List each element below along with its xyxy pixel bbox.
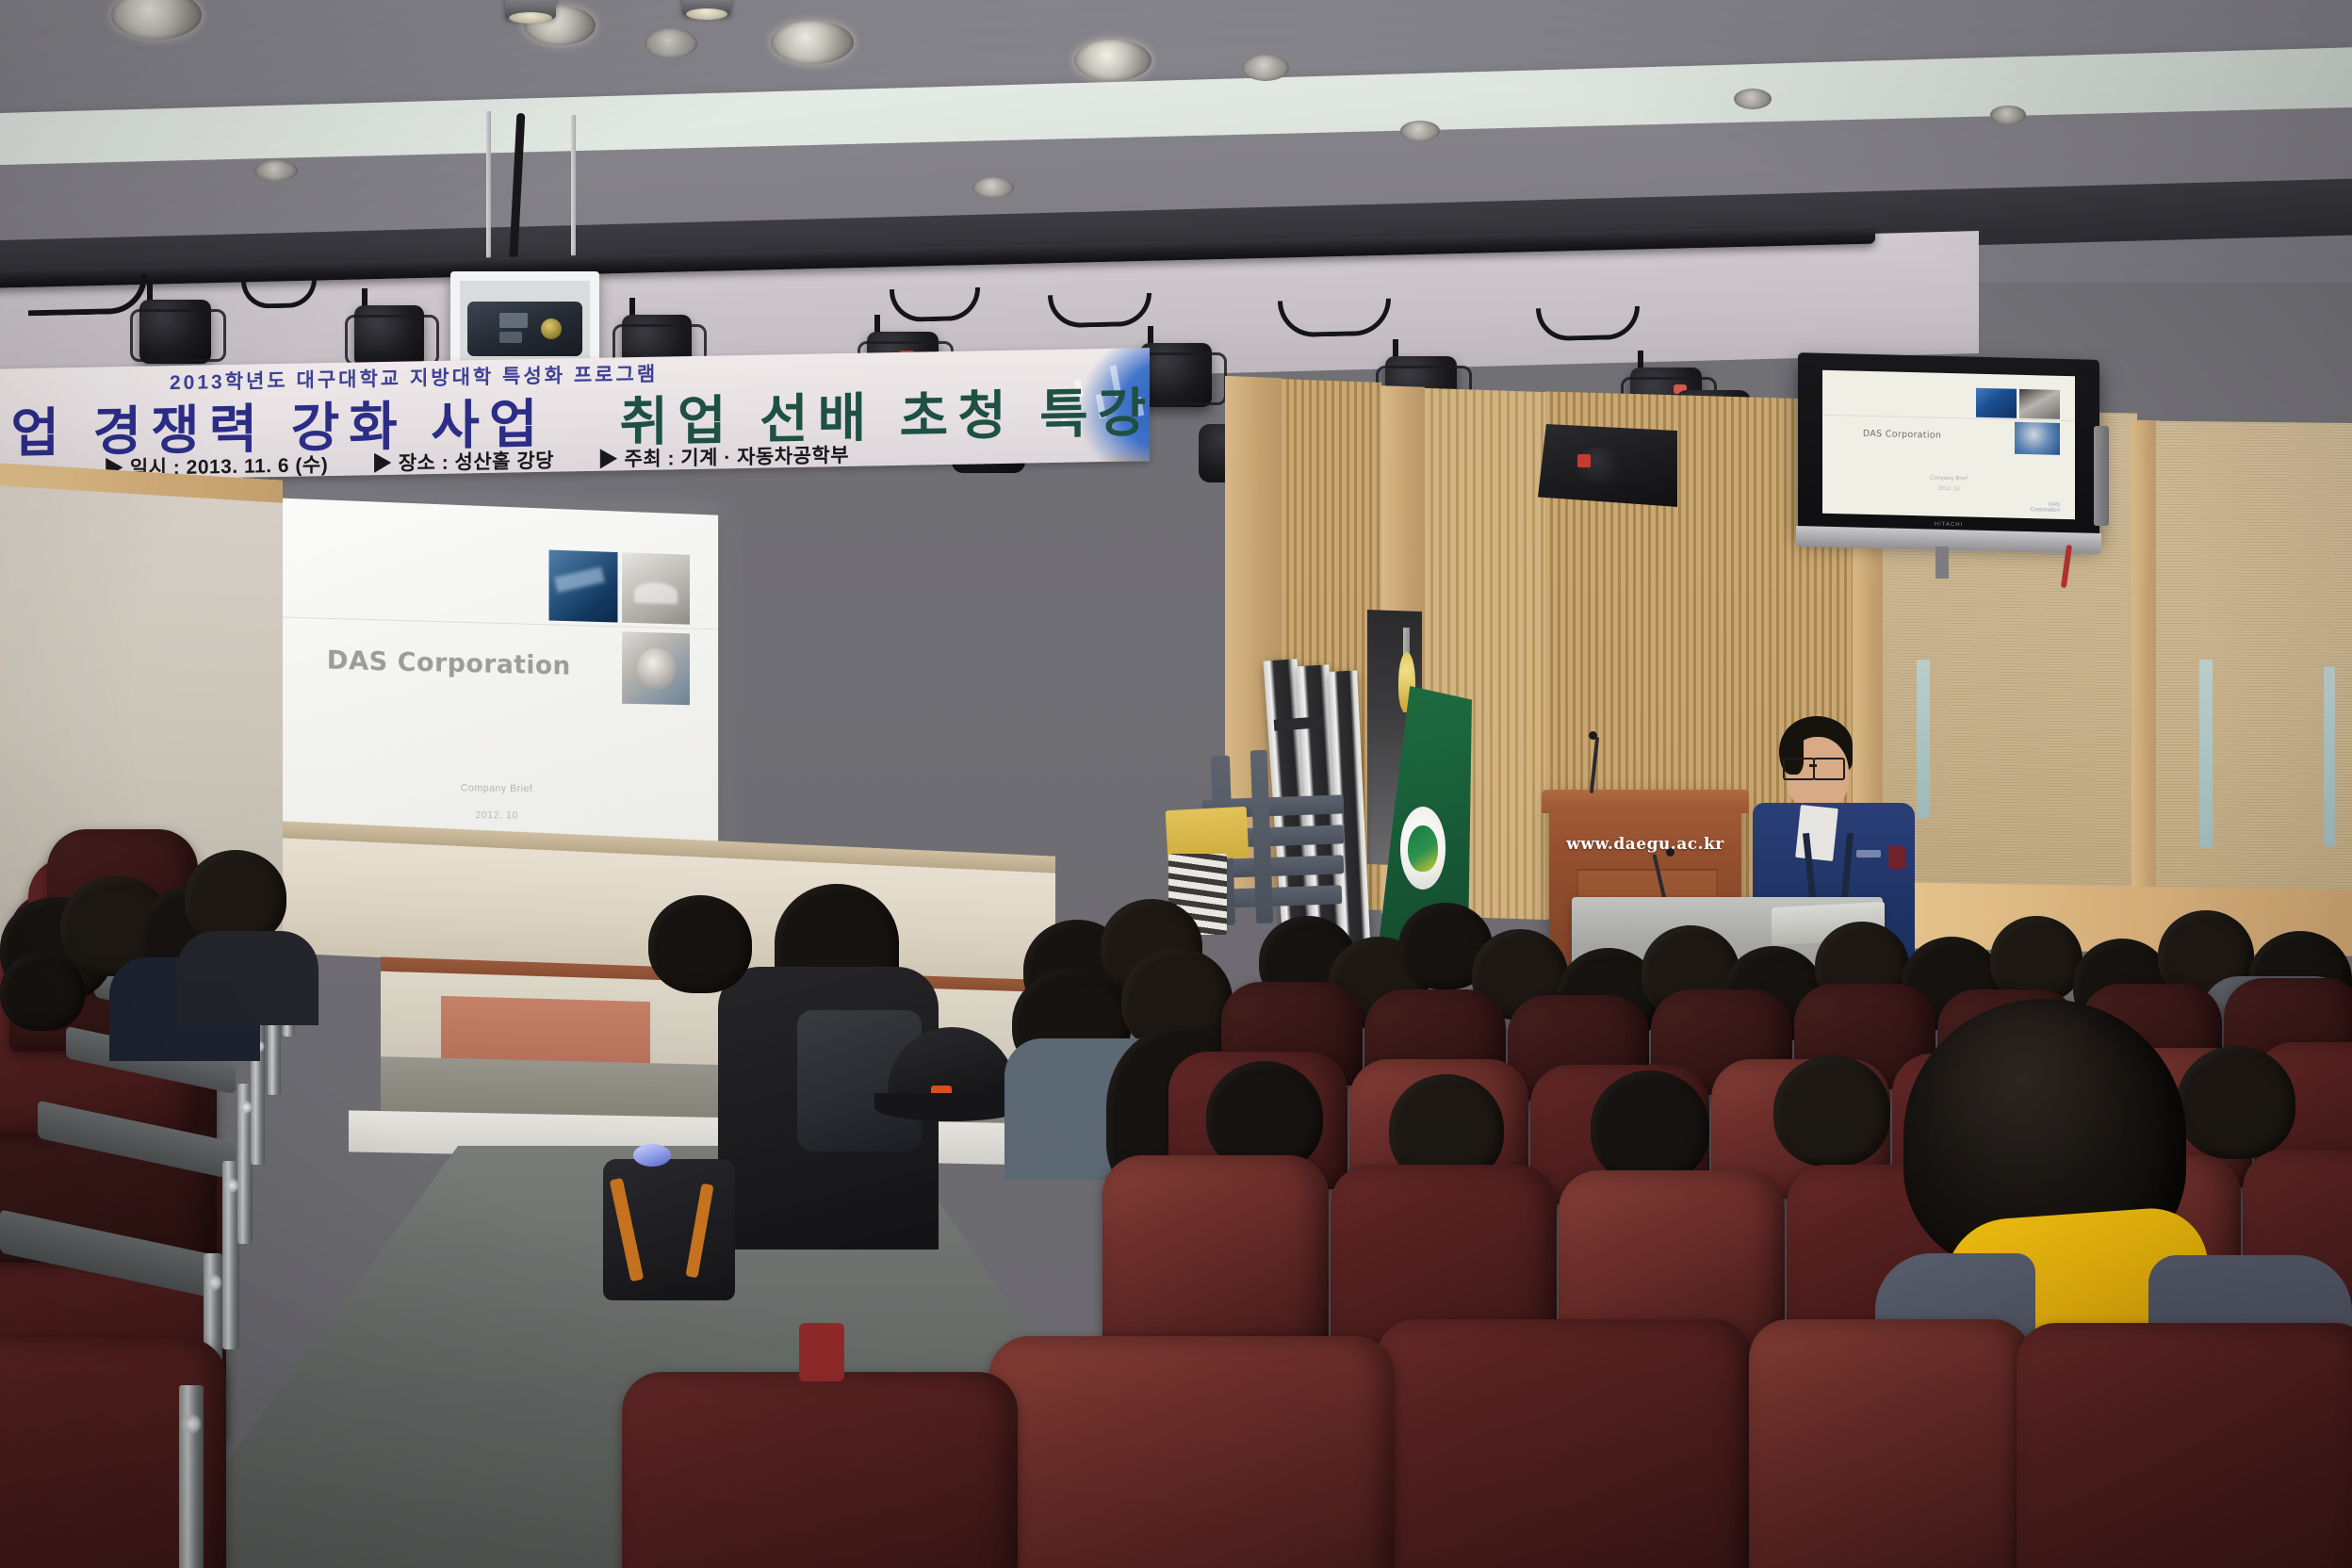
recessed-downlight [645, 28, 697, 58]
par-can-stage-light [1140, 343, 1212, 413]
slide-thumbnail-engine [548, 549, 617, 622]
flag-emblem [1400, 807, 1446, 890]
banner-detail-place: ▶ 장소 : 성산홀 강당 [372, 450, 554, 476]
backpack-on-floor [603, 1159, 735, 1300]
recessed-downlight [1074, 40, 1151, 81]
audience-head [1591, 1070, 1709, 1184]
event-banner: 2013학년도 대구대학교 지방대학 특성화 프로그램 취업 경쟁력 강화 사업… [0, 348, 1150, 482]
tv-thumbnail-seat [2019, 389, 2060, 418]
gooseneck-microphone-head [1666, 848, 1674, 857]
podium-top-ledge [1542, 790, 1749, 813]
speaker-glasses [1813, 758, 1845, 780]
seat-post-highlight [224, 1178, 239, 1193]
auditorium-seat[interactable] [1102, 1155, 1329, 1344]
projector-suspension-rod [571, 115, 576, 264]
ceiling-spot-fixture [682, 0, 731, 15]
auditorium-seat-foreground[interactable] [989, 1336, 1395, 1568]
projector-suspension-rod [486, 111, 491, 262]
banner-detail-host: ▶ 주최 : 기계 · 자동차공학부 [598, 445, 849, 471]
tv-wall-mount-arm [1935, 547, 1949, 579]
slide-thumbnail-seat [622, 552, 690, 625]
auditorium-seat-foreground[interactable] [1749, 1319, 2032, 1568]
wall-accent-stripe [2324, 667, 2335, 846]
audience-head [2177, 1046, 2295, 1159]
recessed-downlight [1990, 106, 2026, 124]
slide-thumbnail-brake [622, 631, 690, 705]
wall-loudspeaker [1538, 424, 1677, 507]
tv-screen: DAS Corporation Company Brief 2012. 10 D… [1822, 370, 2075, 520]
ceiling-spot-fixture [505, 0, 556, 19]
tv-thumbnail-engine [1976, 388, 2017, 417]
slide-subtitle: Company Brief [266, 780, 718, 797]
speaker-glasses [1783, 758, 1815, 780]
recessed-downlight [1400, 121, 1440, 141]
slide-date: 2012. 10 [266, 808, 718, 823]
auditorium-photo: 2013학년도 대구대학교 지방대학 특성화 프로그램 취업 경쟁력 강화 사업… [0, 0, 2352, 1568]
backpack-reflector [633, 1144, 671, 1167]
tv-side-bracket [2094, 426, 2109, 526]
recessed-downlight [1242, 55, 1289, 81]
recessed-downlight [972, 177, 1014, 198]
auditorium-seat-foreground[interactable] [2017, 1323, 2352, 1568]
audience-head [1773, 1055, 1890, 1167]
tv-slide-logo: DAS Corporation [2022, 501, 2060, 514]
podium-url-text: www.daegu.ac.kr [1549, 835, 1741, 854]
recessed-downlight [771, 21, 854, 64]
audience-head [648, 895, 752, 993]
slide-title: DAS Corporation [327, 645, 571, 681]
seat-post-highlight [181, 1413, 202, 1434]
recessed-downlight [254, 160, 298, 181]
auditorium-seat-foreground[interactable] [622, 1372, 1018, 1568]
audience-head [185, 850, 286, 944]
wall-accent-stripe [2199, 660, 2213, 848]
speaker-jacket-shoulder-patch [1888, 846, 1905, 869]
speaker-jacket-logo [1856, 850, 1881, 857]
auditorium-seat-foreground[interactable] [1376, 1319, 1753, 1568]
speaker-glasses-bridge [1809, 764, 1817, 767]
red-item-on-seat [799, 1323, 844, 1381]
seat-post-highlight [205, 1274, 222, 1291]
baseball-cap-brim [874, 1093, 1025, 1121]
podium-microphone-head [1589, 731, 1597, 740]
wall-mounted-tv: DAS Corporation Company Brief 2012. 10 D… [1798, 352, 2099, 541]
audience-head [0, 952, 85, 1031]
audience-shoulders [177, 931, 318, 1025]
par-can-stage-light [139, 300, 211, 369]
recessed-downlight [1734, 89, 1772, 109]
tv-thumbnail-brake [2015, 422, 2060, 455]
tv-slide-date: 2012. 10 [1822, 483, 2075, 496]
tv-slide-title: DAS Corporation [1863, 429, 1941, 441]
seat-post-highlight [239, 1101, 253, 1114]
wall-fabric-panel [2156, 421, 2352, 951]
